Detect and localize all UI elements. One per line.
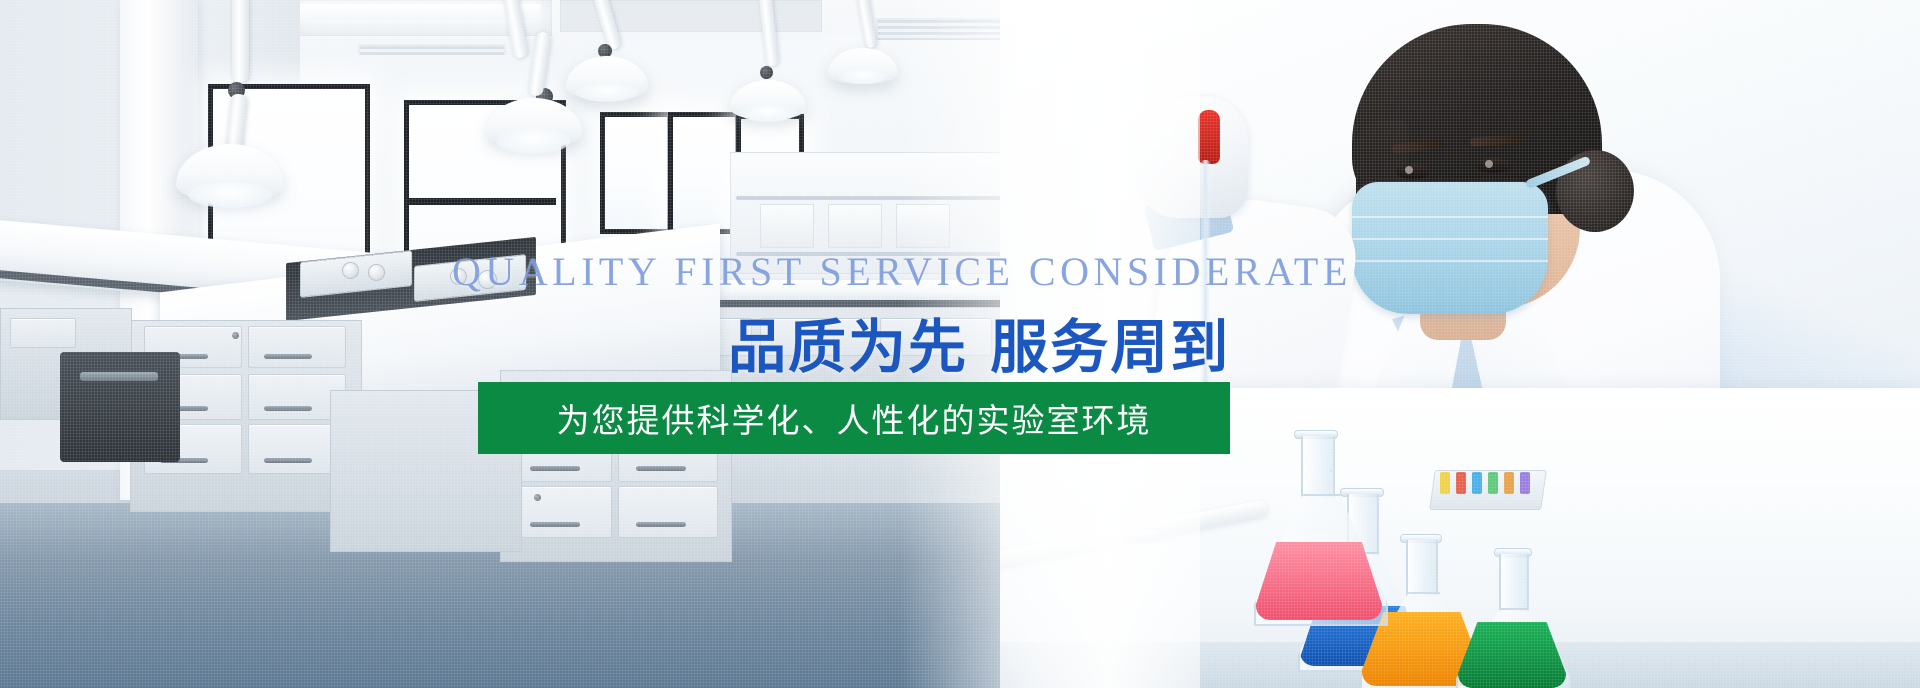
english-tagline: QUALITY FIRST SERVICE CONSIDERATE [452, 248, 1352, 295]
chinese-headline: 品质为先 服务周到 [728, 300, 1230, 384]
hero-banner: QUALITY FIRST SERVICE CONSIDERATE 品质为先 服… [0, 0, 1920, 688]
banner-text-overlay: QUALITY FIRST SERVICE CONSIDERATE 品质为先 服… [0, 0, 1920, 688]
green-subtitle-text: 为您提供科学化、人性化的实验室环境 [557, 394, 1152, 442]
green-subtitle-bar: 为您提供科学化、人性化的实验室环境 [478, 382, 1230, 454]
